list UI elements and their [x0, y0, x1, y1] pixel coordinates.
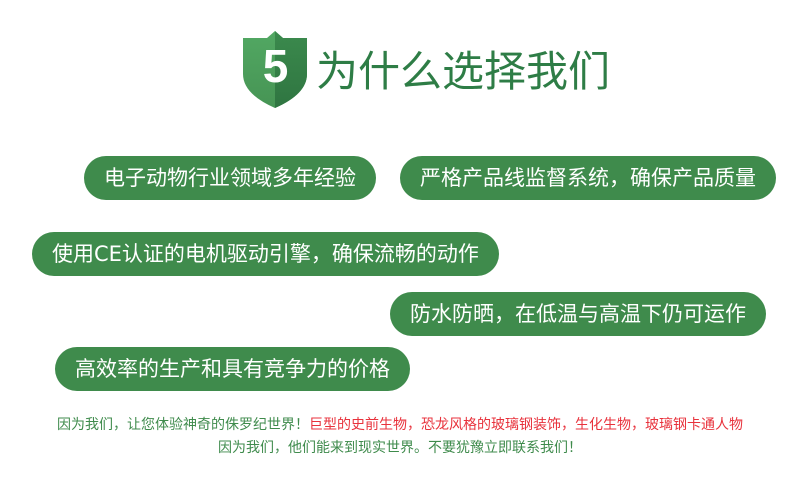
footer-line-2: 因为我们，他们能来到现实世界。不要犹豫立即联系我们！	[0, 437, 800, 460]
page-title: 为什么选择我们	[316, 48, 610, 96]
footer: 因为我们，让您体验神奇的侏罗纪世界！巨型的史前生物，恐龙风格的玻璃钢装饰，生化生…	[0, 414, 800, 460]
feature-pill-2[interactable]: 严格产品线监督系统，确保产品质量	[400, 156, 776, 200]
page-header: 5 为什么选择我们	[0, 22, 800, 122]
badge-number: 5	[241, 30, 309, 102]
shield-badge: 5	[241, 30, 309, 110]
footer-line-1-red: 巨型的史前生物，恐龙风格的玻璃钢装饰，生化生物，玻璃钢卡通人物	[309, 417, 743, 433]
feature-pill-4[interactable]: 防水防晒，在低温与高温下仍可运作	[390, 292, 766, 336]
footer-line-1-green: 因为我们，让您体验神奇的侏罗纪世界！	[57, 417, 309, 433]
feature-pill-1[interactable]: 电子动物行业领域多年经验	[84, 156, 376, 200]
feature-pill-5[interactable]: 高效率的生产和具有竞争力的价格	[55, 347, 410, 391]
footer-line-2-green: 因为我们，他们能来到现实世界。不要犹豫立即联系我们！	[218, 440, 582, 456]
feature-pill-3[interactable]: 使用CE认证的电机驱动引擎，确保流畅的动作	[32, 232, 499, 276]
footer-line-1: 因为我们，让您体验神奇的侏罗纪世界！巨型的史前生物，恐龙风格的玻璃钢装饰，生化生…	[0, 414, 800, 437]
